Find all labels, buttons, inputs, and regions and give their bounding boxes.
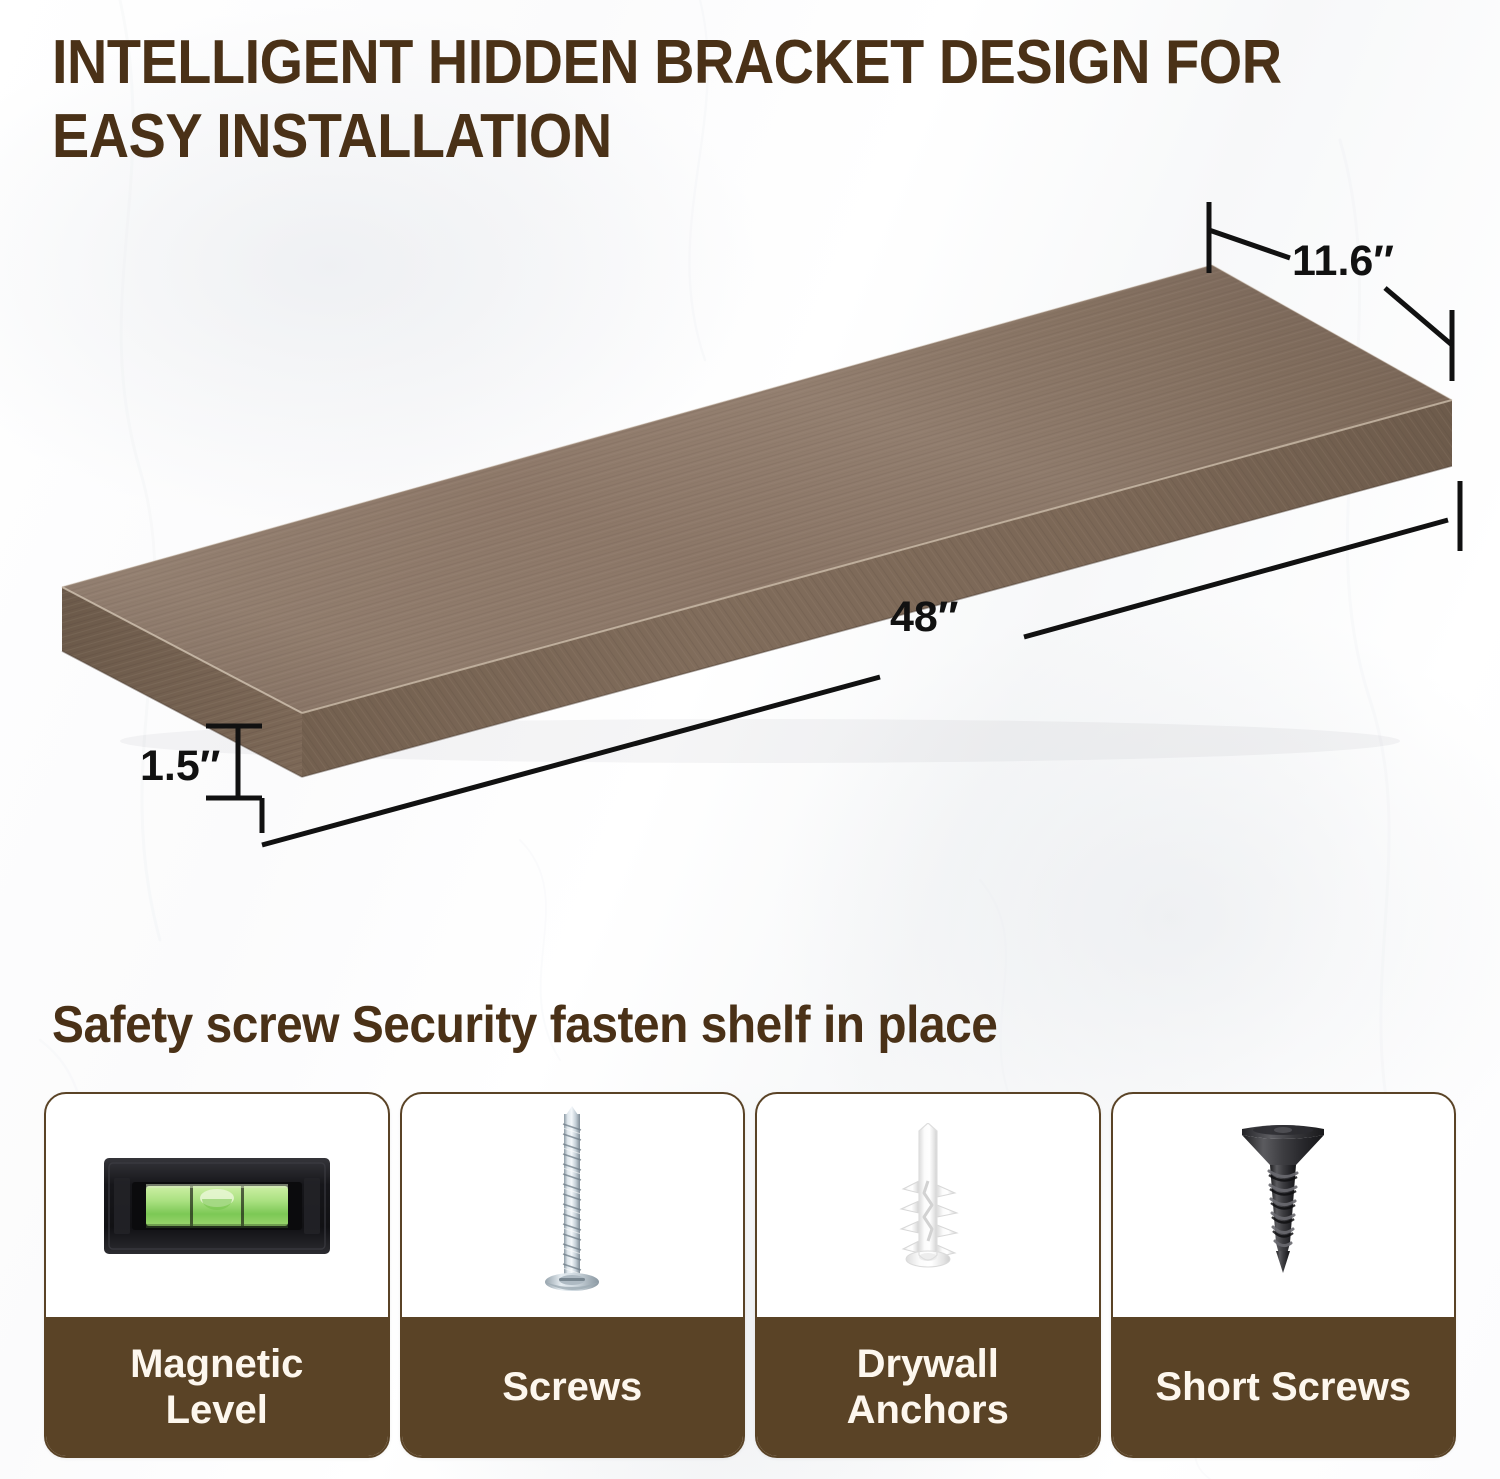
page-title: INTELLIGENT HIDDEN BRACKET DESIGN FOR EA…	[52, 26, 1330, 174]
accessory-card-short-screws[interactable]: Short Screws	[1111, 1092, 1457, 1458]
infographic-page: INTELLIGENT HIDDEN BRACKET DESIGN FOR EA…	[0, 0, 1500, 1479]
accessory-card-magnetic-level[interactable]: Magnetic Level	[44, 1092, 390, 1458]
card-label: Magnetic Level	[46, 1317, 388, 1456]
dimension-length-label: 48″	[890, 593, 958, 641]
pan-head-screw-icon	[537, 1106, 607, 1306]
card-art	[757, 1094, 1099, 1317]
accessories-heading: Safety screw Security fasten shelf in pl…	[52, 995, 1340, 1055]
drywall-anchor-icon	[873, 1123, 983, 1288]
card-label: Drywall Anchors	[757, 1317, 1099, 1456]
shelf-diagram: 11.6″ 48″ 1.5″	[0, 185, 1500, 855]
card-art	[1113, 1094, 1455, 1317]
card-label: Screws	[402, 1317, 744, 1456]
flat-head-screw-icon	[1228, 1121, 1338, 1291]
accessory-card-screws[interactable]: Screws	[400, 1092, 746, 1458]
card-art	[402, 1094, 744, 1317]
spirit-level-icon	[102, 1154, 332, 1258]
card-art	[46, 1094, 388, 1317]
card-label: Short Screws	[1113, 1317, 1455, 1456]
accessory-card-list: Magnetic Level	[44, 1092, 1456, 1454]
accessory-card-drywall-anchors[interactable]: Drywall Anchors	[755, 1092, 1101, 1458]
dimension-thickness-label: 1.5″	[140, 742, 220, 790]
dimension-depth-label: 11.6″	[1292, 237, 1394, 285]
